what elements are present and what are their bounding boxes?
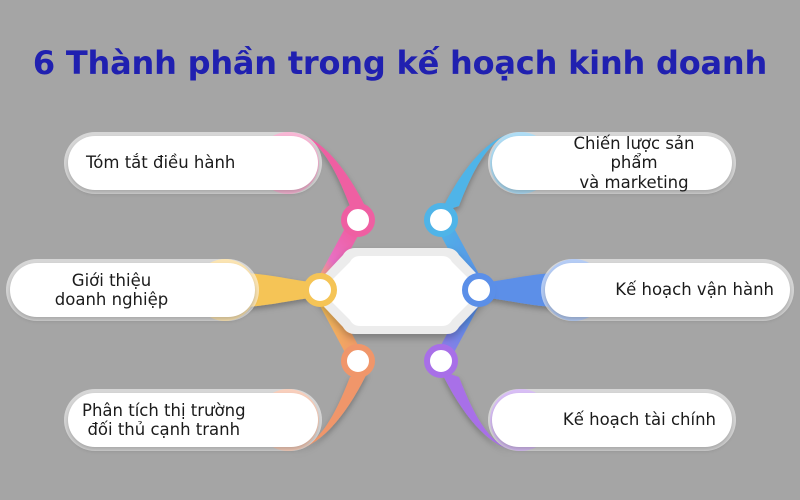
label-pill-summary[interactable]: Tóm tắt điều hành (68, 136, 318, 190)
hub-node-market-competitor-analysis[interactable] (344, 347, 372, 375)
label-text-product-marketing-strategy: Chiến lược sản phẩm và marketing (550, 134, 718, 192)
hub-node-product-marketing-strategy[interactable] (427, 206, 455, 234)
hub-node-summary[interactable] (344, 206, 372, 234)
label-pill-operations-plan[interactable]: Kế hoạch vận hành (545, 263, 790, 317)
label-pill-market-competitor-analysis[interactable]: Phân tích thị trường đối thủ cạnh tranh (68, 393, 318, 447)
hub-node-financial-plan[interactable] (427, 347, 455, 375)
label-pill-business-introduction[interactable]: Giới thiệu doanh nghiệp (10, 263, 255, 317)
label-text-operations-plan: Kế hoạch vận hành (615, 280, 774, 299)
infographic-canvas: 6 Thành phần trong kế hoạch kinh doanh (0, 0, 800, 500)
hub-node-operations-plan[interactable] (465, 276, 493, 304)
label-pill-financial-plan[interactable]: Kế hoạch tài chính (492, 393, 732, 447)
label-text-financial-plan: Kế hoạch tài chính (563, 410, 716, 429)
label-pill-product-marketing-strategy[interactable]: Chiến lược sản phẩm và marketing (492, 136, 732, 190)
label-text-business-introduction: Giới thiệu doanh nghiệp (55, 271, 168, 310)
label-text-market-competitor-analysis: Phân tích thị trường đối thủ cạnh tranh (82, 401, 246, 440)
hub-node-business-introduction[interactable] (306, 276, 334, 304)
label-text-summary: Tóm tắt điều hành (86, 153, 235, 172)
